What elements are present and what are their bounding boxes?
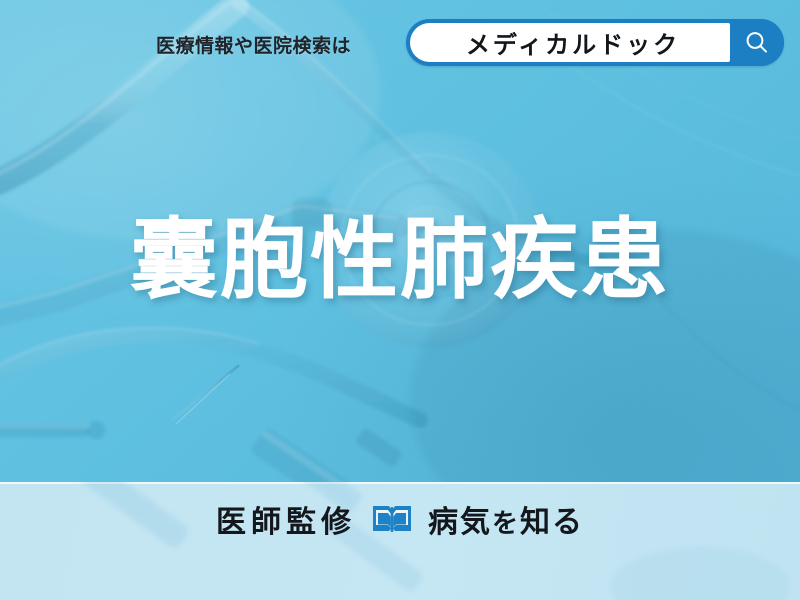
page-title: 囊胞性肺疾患 [0,214,800,306]
search-input-value: メディカルドック [460,25,680,60]
search-input[interactable]: メディカルドック [410,23,730,62]
footer-tagline-particle: を [492,508,520,538]
footer-tagline-verb: 知る [520,506,584,539]
footer-tagline-main: 病気 [428,506,492,539]
screenshot-root: 医療情報や医院検索は メディカルドック 囊胞性肺疾患 [0,0,800,600]
supervision-label: 医師監修 [216,497,356,541]
open-book-icon [370,502,414,536]
footer-bar: 医師監修 病気を知る Medical [0,482,800,600]
footer-tagline: 病気を知る [428,497,584,541]
header-lead-text: 医療情報や医院検索は [156,31,351,58]
footer-tagline-row: 医師監修 病気を知る [0,496,800,542]
search-button[interactable] [730,19,784,66]
search-icon [743,29,771,57]
search-bar[interactable]: メディカルドック [406,19,784,66]
